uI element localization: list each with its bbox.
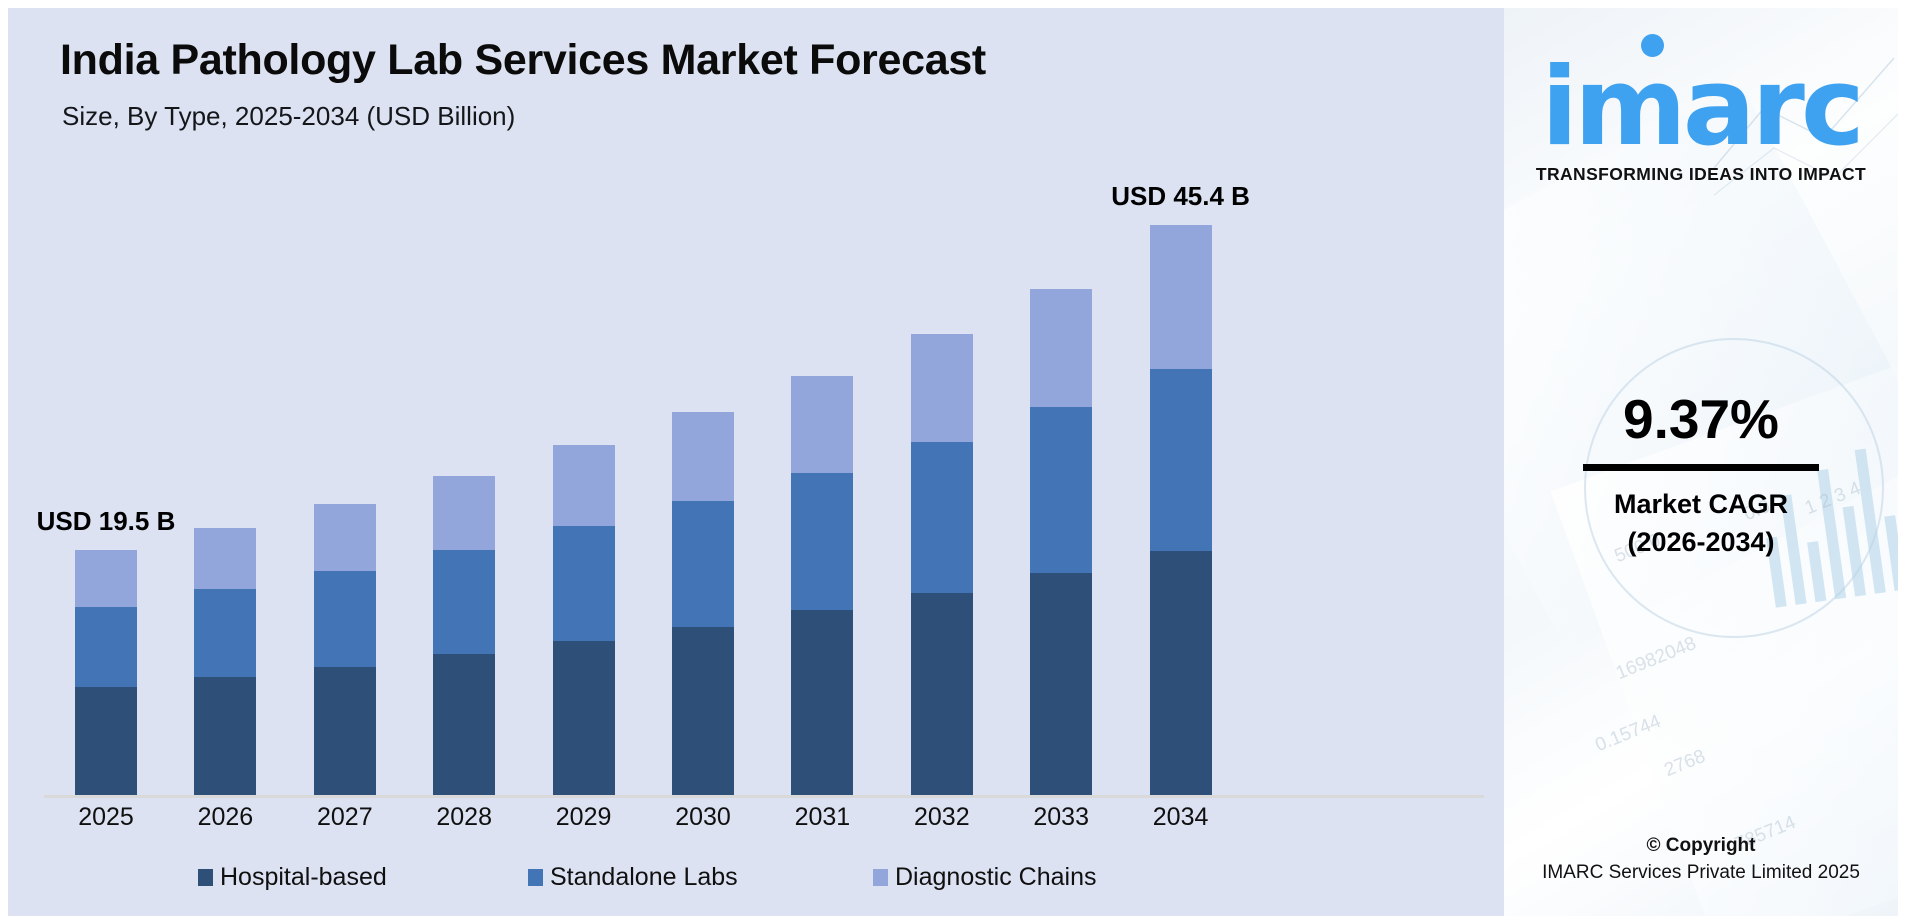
x-axis-line xyxy=(44,795,1484,798)
bar-segment-standalone-labs[interactable] xyxy=(1150,369,1212,551)
cagr-value: 9.37% xyxy=(1504,388,1898,450)
screenshot-root: India Pathology Lab Services Market Fore… xyxy=(0,0,1906,924)
logo-tagline: TRANSFORMING IDEAS INTO IMPACT xyxy=(1504,164,1898,185)
chart-subtitle: Size, By Type, 2025-2034 (USD Billion) xyxy=(62,101,515,132)
brand-panel: 500.0 0.0 1 2 3 4 16982048 0.15744 2768 … xyxy=(1504,8,1898,916)
chart-legend: Hospital-basedStandalone LabsDiagnostic … xyxy=(8,863,1504,903)
bar-group[interactable]: USD 19.5 B xyxy=(75,550,137,795)
x-axis-tick-2025: 2025 xyxy=(46,803,166,832)
bar-segment-hospital-based[interactable] xyxy=(314,667,376,795)
legend-label: Standalone Labs xyxy=(550,863,738,892)
bar-segment-hospital-based[interactable] xyxy=(1150,551,1212,795)
imarc-logo: imarc TRANSFORMING IDEAS INTO IMPACT xyxy=(1504,26,1898,185)
bar-segment-hospital-based[interactable] xyxy=(911,593,973,795)
bar-segment-standalone-labs[interactable] xyxy=(553,526,615,640)
legend-swatch-icon xyxy=(198,869,213,886)
bar-segment-hospital-based[interactable] xyxy=(791,610,853,795)
bar-segment-standalone-labs[interactable] xyxy=(433,550,495,654)
bar-value-label: USD 45.4 B xyxy=(1111,181,1250,212)
bar-segment-diagnostic-chains[interactable] xyxy=(672,412,734,501)
copyright-block: © Copyright IMARC Services Private Limit… xyxy=(1504,832,1898,886)
cagr-divider xyxy=(1583,464,1819,471)
bar-segment-diagnostic-chains[interactable] xyxy=(553,445,615,527)
bar-segment-hospital-based[interactable] xyxy=(433,654,495,795)
legend-item-standalone-labs[interactable]: Standalone Labs xyxy=(528,863,738,892)
cagr-callout: 9.37% Market CAGR (2026-2034) xyxy=(1504,388,1898,561)
bar-segment-standalone-labs[interactable] xyxy=(791,473,853,610)
logo-wordmark: imarc xyxy=(1504,54,1898,162)
bar-segment-hospital-based[interactable] xyxy=(194,677,256,795)
legend-swatch-icon xyxy=(528,869,543,886)
bar-segment-hospital-based[interactable] xyxy=(672,627,734,795)
copyright-line-2: IMARC Services Private Limited 2025 xyxy=(1504,859,1898,886)
logo-dot-icon xyxy=(1641,34,1664,57)
bar-group[interactable] xyxy=(553,445,615,795)
x-axis-tick-2026: 2026 xyxy=(165,803,285,832)
cagr-caption-line-1: Market CAGR xyxy=(1504,485,1898,523)
legend-item-diagnostic-chains[interactable]: Diagnostic Chains xyxy=(873,863,1097,892)
x-axis-tick-2031: 2031 xyxy=(762,803,882,832)
x-axis-tick-2032: 2032 xyxy=(882,803,1002,832)
bar-segment-standalone-labs[interactable] xyxy=(672,501,734,627)
x-axis-tick-2030: 2030 xyxy=(643,803,763,832)
bar-segment-diagnostic-chains[interactable] xyxy=(433,476,495,550)
bar-group[interactable] xyxy=(672,412,734,795)
bar-segment-diagnostic-chains[interactable] xyxy=(1030,289,1092,407)
bar-segment-diagnostic-chains[interactable] xyxy=(194,528,256,590)
x-axis-tick-2029: 2029 xyxy=(524,803,644,832)
bar-segment-hospital-based[interactable] xyxy=(553,641,615,795)
bar-group[interactable] xyxy=(1030,289,1092,795)
x-axis-tick-2034: 2034 xyxy=(1121,803,1241,832)
bar-segment-hospital-based[interactable] xyxy=(75,687,137,795)
bar-group[interactable] xyxy=(194,528,256,796)
copyright-line-1: © Copyright xyxy=(1504,832,1898,859)
bar-segment-standalone-labs[interactable] xyxy=(194,589,256,677)
bar-group[interactable] xyxy=(911,334,973,795)
page-title: India Pathology Lab Services Market Fore… xyxy=(60,36,986,85)
bar-segment-standalone-labs[interactable] xyxy=(75,607,137,687)
bar-segment-diagnostic-chains[interactable] xyxy=(1150,225,1212,369)
bar-segment-diagnostic-chains[interactable] xyxy=(791,376,853,474)
bar-segment-diagnostic-chains[interactable] xyxy=(314,504,376,572)
x-axis-tick-2033: 2033 xyxy=(1001,803,1121,832)
bar-segment-standalone-labs[interactable] xyxy=(1030,407,1092,573)
bar-segment-hospital-based[interactable] xyxy=(1030,573,1092,795)
bar-group[interactable]: USD 45.4 B xyxy=(1150,225,1212,795)
legend-item-hospital-based[interactable]: Hospital-based xyxy=(198,863,387,892)
bar-segment-diagnostic-chains[interactable] xyxy=(75,550,137,607)
artwork-ghost-number-4: 16982048 xyxy=(1613,633,1700,685)
bar-segment-standalone-labs[interactable] xyxy=(314,571,376,666)
chart-panel: India Pathology Lab Services Market Fore… xyxy=(8,8,1504,916)
legend-label: Hospital-based xyxy=(220,863,387,892)
x-axis-tick-2027: 2027 xyxy=(285,803,405,832)
bar-group[interactable] xyxy=(314,504,376,795)
bar-group[interactable] xyxy=(433,476,495,795)
artwork-ghost-number-6: 2768 xyxy=(1661,746,1708,782)
bar-value-label: USD 19.5 B xyxy=(37,506,176,537)
bar-segment-standalone-labs[interactable] xyxy=(911,442,973,593)
plot-area: USD 19.5 BUSD 45.4 B xyxy=(8,158,1504,798)
cagr-caption-line-2: (2026-2034) xyxy=(1504,523,1898,561)
legend-swatch-icon xyxy=(873,869,888,886)
legend-label: Diagnostic Chains xyxy=(895,863,1097,892)
bar-segment-diagnostic-chains[interactable] xyxy=(911,334,973,442)
x-axis-tick-2028: 2028 xyxy=(404,803,524,832)
bar-group[interactable] xyxy=(791,376,853,795)
artwork-ghost-number-5: 0.15744 xyxy=(1592,711,1664,757)
x-axis-tick-labels: 2025202620272028202920302031203220332034 xyxy=(8,803,1504,843)
